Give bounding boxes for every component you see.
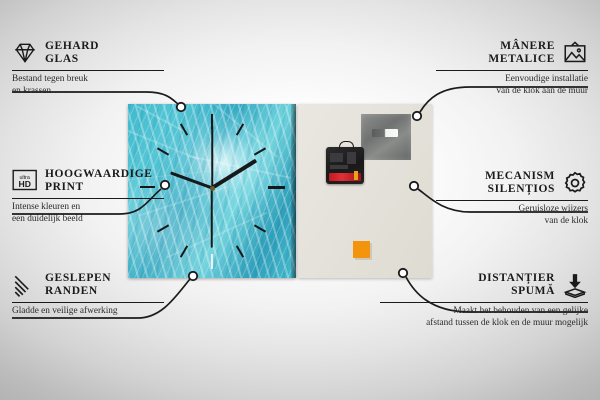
feature-sub-line2: en krassen bbox=[12, 86, 164, 97]
clock-tick bbox=[254, 147, 266, 155]
feature-hoogwaardige-print: ultra HD HOOGWAARDIGE PRINT Intense kleu… bbox=[12, 168, 164, 225]
feature-sub-line1: Geruisloze wijzers bbox=[436, 204, 588, 215]
foam-spacer bbox=[353, 241, 370, 258]
mechanism-detail bbox=[330, 165, 348, 169]
mechanism-battery bbox=[329, 173, 361, 181]
feature-sub-line1: Eenvoudige installatie bbox=[436, 74, 588, 85]
feature-sub-line1: Gladde en veilige afwerking bbox=[12, 306, 164, 317]
clock-mechanism bbox=[326, 147, 364, 184]
mechanism-detail bbox=[347, 152, 356, 164]
feature-geslepen-randen: GESLEPEN RANDEN Gladde en veilige afwerk… bbox=[12, 272, 164, 318]
feature-sub-line2: van de klok bbox=[436, 216, 588, 227]
feature-rule bbox=[12, 198, 164, 199]
feature-title-line1: GEHARD bbox=[45, 40, 99, 53]
feature-rule bbox=[436, 70, 588, 71]
clock-minute-hand bbox=[170, 171, 213, 189]
mechanism-detail bbox=[330, 153, 343, 162]
feature-manere-metalice: MÂNERE METALICE Eenvoudige installatie v… bbox=[436, 40, 588, 97]
feature-rule bbox=[380, 302, 588, 303]
feature-sub-line1: Maakt het behouden van een gelijke bbox=[380, 306, 588, 317]
feature-sub-line2: afstand tussen de klok en de muur mogeli… bbox=[380, 318, 588, 329]
feature-rule bbox=[12, 70, 164, 71]
clock-tick bbox=[268, 186, 285, 189]
feature-title-line2: SPUMĂ bbox=[478, 285, 555, 298]
feature-rule bbox=[12, 302, 164, 303]
clock-tick bbox=[157, 147, 169, 155]
feature-sub-line1: Intense kleuren en bbox=[12, 202, 164, 213]
feature-title-line1: HOOGWAARDIGE bbox=[45, 168, 153, 181]
ultra-hd-icon: ultra HD bbox=[12, 168, 38, 194]
feature-title-line2: PRINT bbox=[45, 181, 153, 194]
spacer-arrow-icon bbox=[562, 272, 588, 298]
feature-distantier-spuma: DISTANȚIER SPUMĂ Maakt het behouden van … bbox=[380, 272, 588, 329]
feature-title-line2: GLAS bbox=[45, 53, 99, 66]
feature-title-line1: GESLEPEN bbox=[45, 272, 111, 285]
feature-rule bbox=[436, 200, 588, 201]
feature-title-line1: DISTANȚIER bbox=[478, 272, 555, 285]
feature-title-line2: METALICE bbox=[488, 53, 555, 66]
feature-sub-line2: van de klok aan de muur bbox=[436, 86, 588, 97]
feature-sub-line2: een duidelijk beeld bbox=[12, 214, 164, 225]
clock-second-hand bbox=[211, 188, 213, 248]
clock-back-panel bbox=[298, 104, 432, 278]
product-composite-image bbox=[128, 104, 432, 278]
feature-title-line1: MÂNERE bbox=[488, 40, 555, 53]
feature-title-line1: MECANISM bbox=[485, 170, 555, 183]
clock-center-pin bbox=[210, 186, 215, 191]
bevelled-edge-icon bbox=[12, 272, 38, 298]
svg-text:HD: HD bbox=[18, 179, 30, 189]
clock-tick bbox=[236, 245, 244, 257]
feature-gehard-glas: GEHARD GLAS Bestand tegen breuk en krass… bbox=[12, 40, 164, 97]
clock-tick bbox=[211, 254, 213, 269]
feature-sub-line1: Bestand tegen breuk bbox=[12, 74, 164, 85]
diamond-icon bbox=[12, 40, 38, 66]
infographic-canvas: GEHARD GLAS Bestand tegen breuk en krass… bbox=[0, 0, 600, 400]
gear-icon bbox=[562, 170, 588, 196]
clock-tick bbox=[157, 224, 169, 232]
clock-tick bbox=[254, 224, 266, 232]
clock-second-hand-tail bbox=[211, 126, 213, 188]
clock-hour-hand bbox=[211, 159, 257, 190]
mechanism-hanger-loop bbox=[339, 141, 354, 150]
metal-hanger-plate bbox=[361, 114, 411, 160]
feature-title-line2: RANDEN bbox=[45, 285, 111, 298]
feature-title-line2: SILENȚIOS bbox=[485, 183, 555, 196]
feature-mecanism-silentios: MECANISM SILENȚIOS Geruisloze wijzers va… bbox=[436, 170, 588, 227]
hanger-slot bbox=[372, 129, 398, 137]
picture-frame-hanger-icon bbox=[562, 40, 588, 66]
